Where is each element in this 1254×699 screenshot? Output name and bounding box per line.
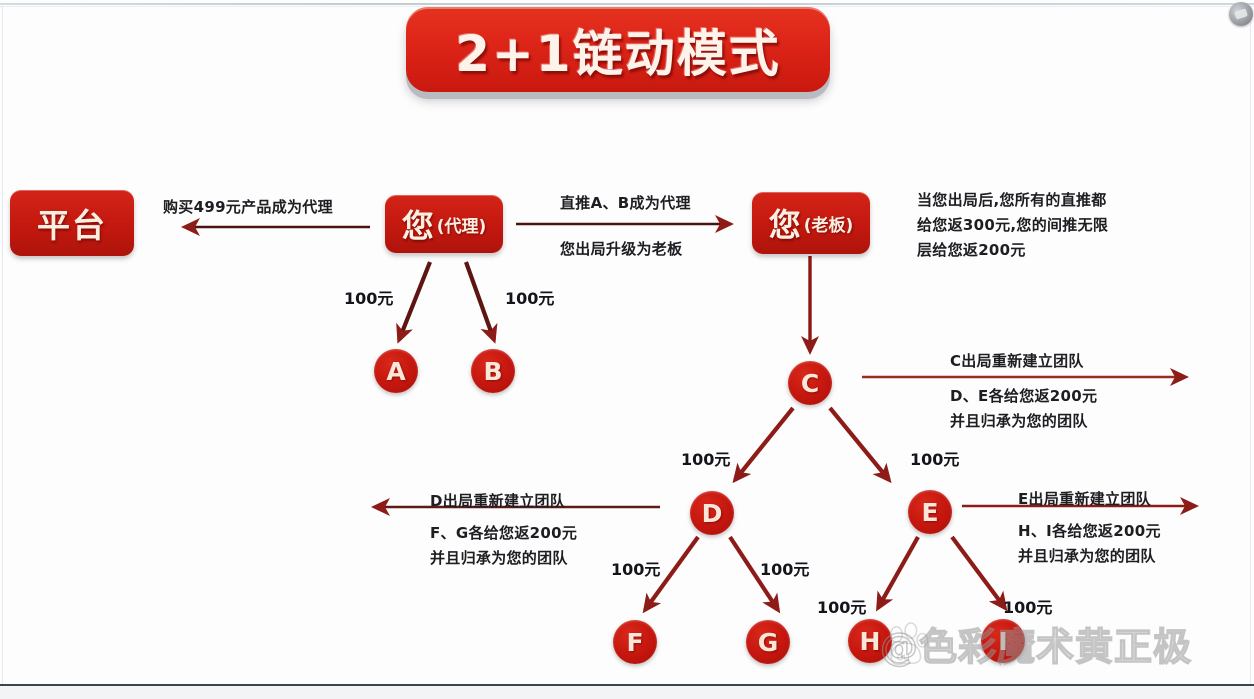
box-agent[interactable]: 您 (代理) [385,195,503,253]
node-g[interactable]: G [746,620,790,664]
label-boss-note: 当您出局后,您所有的直推都 给您返300元,您的间推无限 层给您返200元 [917,188,1108,263]
node-f[interactable]: F [613,620,657,664]
label-agent-to-boss-top: 直推A、B成为代理 [560,192,691,213]
box-boss-label: 您 [769,200,801,246]
label-d-rebuild-top: D出局重新建立团队 [430,490,565,511]
diagram-canvas: 2+1链动模式 [0,0,1254,699]
node-d[interactable]: D [690,491,734,535]
frame-footer-strip [0,686,1254,699]
arrow-agent-to-b [466,262,494,340]
title-banner: 2+1链动模式 [406,7,830,92]
label-agent-to-boss-bottom: 您出局升级为老板 [560,238,682,259]
box-agent-sublabel: (代理) [437,212,487,237]
box-agent-label: 您 [402,201,434,247]
node-e[interactable]: E [908,490,952,534]
label-e-rebuild-bottom: H、I各给您返200元 并且归承为您的团队 [1018,519,1161,569]
node-b[interactable]: B [471,349,515,393]
money-label-e: 100元 [910,446,959,470]
label-c-rebuild-bottom: D、E各给您返200元 并且归承为您的团队 [950,384,1097,434]
arrow-agent-to-a [399,262,430,340]
label-d-rebuild-bottom: F、G各给您返200元 并且归承为您的团队 [430,521,577,571]
watermark-text: @色彩魔术黄正极 [880,616,1192,671]
label-c-rebuild-top: C出局重新建立团队 [950,350,1084,371]
box-boss[interactable]: 您 (老板) [752,192,870,254]
scroll-nub-icon[interactable] [1229,2,1253,26]
frame-edge-left [2,6,3,684]
money-label-f: 100元 [611,556,660,580]
arrow-c-to-e [830,408,889,480]
page-title: 2+1链动模式 [455,14,780,86]
label-platform-arrow: 购买499元产品成为代理 [163,196,333,217]
node-a[interactable]: A [374,349,418,393]
arrow-c-to-d [735,408,793,480]
frame-line-top [0,3,1254,5]
money-label-d: 100元 [681,446,730,470]
money-label-a: 100元 [344,285,393,309]
arrow-e-to-i [952,537,1005,608]
box-boss-sublabel: (老板) [804,211,854,236]
money-label-g: 100元 [760,556,809,580]
label-e-rebuild-top: E出局重新建立团队 [1018,488,1151,509]
frame-edge-right [1250,6,1251,684]
box-platform-label: 平台 [37,199,107,247]
money-label-i: 100元 [1003,594,1052,618]
box-platform[interactable]: 平台 [10,190,134,256]
node-c[interactable]: C [788,361,832,405]
arrow-e-to-h [878,537,918,608]
money-label-b: 100元 [505,285,554,309]
money-label-h: 100元 [817,594,866,618]
